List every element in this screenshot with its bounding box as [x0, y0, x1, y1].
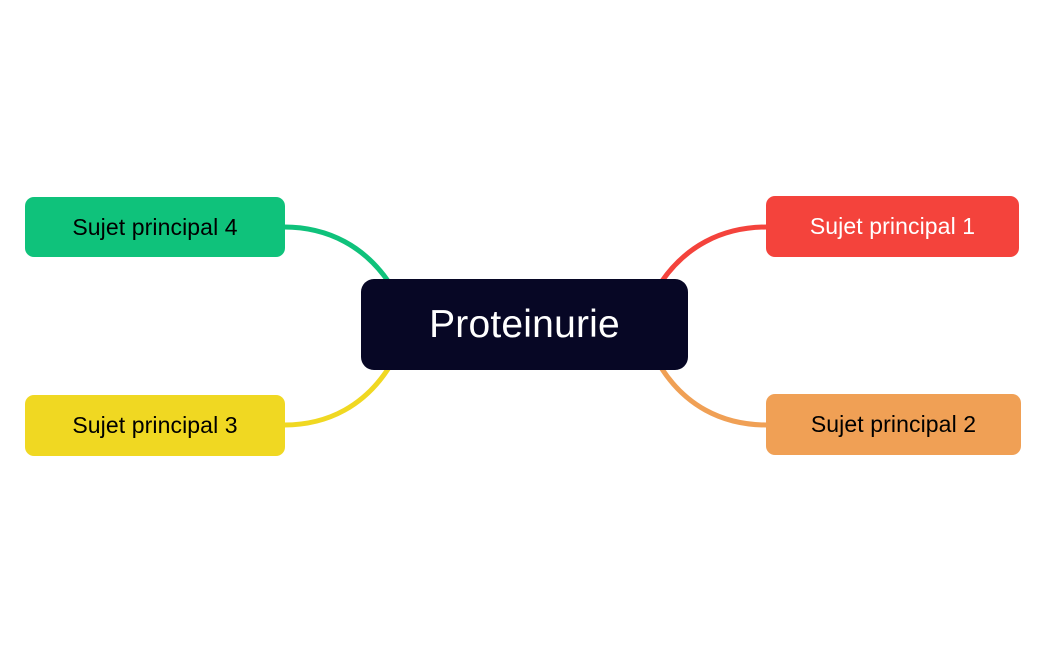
mind-map-node-topic4-label: Sujet principal 4	[72, 216, 237, 239]
connector-topic3	[284, 369, 388, 425]
mind-map-central-topic-label: Proteinurie	[429, 305, 620, 344]
mind-map-node-topic1[interactable]: Sujet principal 1	[766, 196, 1019, 257]
mind-map-node-topic1-label: Sujet principal 1	[810, 215, 975, 238]
mind-map-node-topic4[interactable]: Sujet principal 4	[25, 197, 285, 257]
connector-topic4	[284, 227, 388, 281]
mind-map-node-topic2-label: Sujet principal 2	[811, 413, 976, 436]
mind-map-canvas: Sujet principal 4 Sujet principal 3 Prot…	[0, 0, 1048, 650]
mind-map-node-topic2[interactable]: Sujet principal 2	[766, 394, 1021, 455]
mind-map-node-topic3-label: Sujet principal 3	[72, 414, 237, 437]
connector-topic2	[662, 369, 767, 425]
mind-map-central-topic[interactable]: Proteinurie	[361, 279, 688, 370]
mind-map-node-topic3[interactable]: Sujet principal 3	[25, 395, 285, 456]
connector-topic1	[662, 227, 767, 281]
